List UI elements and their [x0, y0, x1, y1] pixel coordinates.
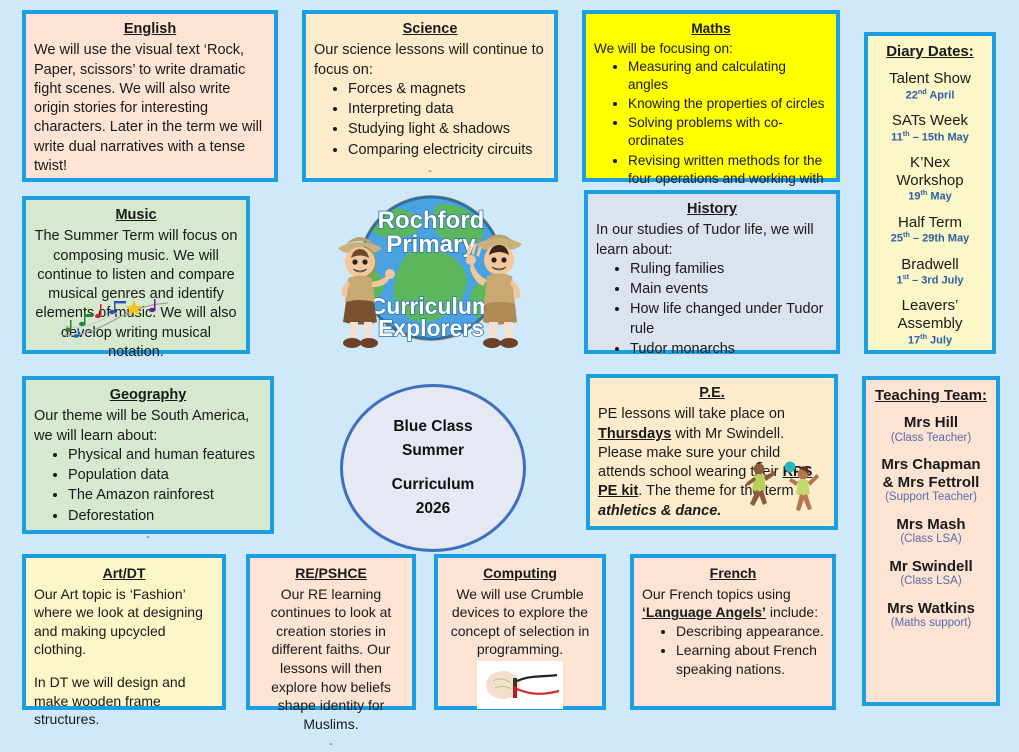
list-item: Main events [630, 280, 828, 299]
maths-title: Maths [594, 20, 828, 38]
team-member-name: Mrs Mash [874, 516, 988, 534]
list-item: Population data [68, 466, 262, 485]
list-item: Forces & magnets [348, 80, 546, 99]
geography-intro: Our theme will be South America, we will… [34, 407, 262, 446]
diary-entry: Talent Show 22nd April [876, 70, 984, 103]
list-item: How life changed under Tudor rule [630, 300, 828, 339]
team-member: Mrs Chapman & Mrs Fettroll (Support Teac… [874, 456, 988, 506]
geography-trailing-dash: - [34, 530, 262, 545]
science-trailing-dash: - [314, 164, 546, 179]
diary-entry: SATs Week 11th – 15th May [876, 112, 984, 145]
diary-entry: K’Nex Workshop 19th May [876, 154, 984, 205]
repshce-trailing-dash: - [258, 737, 404, 752]
team-member-role: (Support Teacher) [874, 490, 988, 505]
list-item: Tudor monarchs [630, 340, 828, 359]
list-item: Interpreting data [348, 100, 546, 119]
diary-entry: Bradwell 1st – 3rd July [876, 256, 984, 289]
science-list: Forces & magnets Interpreting data Study… [318, 80, 546, 160]
diary-date: 25th – 29th May [876, 230, 984, 246]
repshce-body: Our RE learning continues to look at cre… [258, 585, 404, 734]
list-item: Solving problems with co-ordinates [628, 114, 828, 150]
pe-theme: athletics & dance. [598, 503, 721, 519]
diary-event: Half Term [876, 214, 984, 232]
artdt-title: Art/DT [34, 564, 214, 583]
science-title: Science [314, 20, 546, 39]
diary-event: SATs Week [876, 112, 984, 130]
subject-card-maths: Maths We will be focusing on: Measuring … [582, 10, 840, 182]
crumble-board-photo [477, 661, 563, 709]
logo-line-2: Primary [386, 231, 476, 258]
pe-title: P.E. [598, 384, 826, 403]
dancing-children-icon [732, 456, 828, 522]
team-member-role: (Class LSA) [874, 532, 988, 547]
geography-title: Geography [34, 386, 262, 405]
class-circle-line-4: 2026 [416, 497, 450, 521]
class-circle-line-1: Blue Class [393, 415, 472, 439]
class-circle-line-3: Curriculum [392, 473, 475, 497]
logo-line-1: Rochford [378, 207, 485, 234]
french-title: French [642, 564, 824, 583]
subject-card-geography: Geography Our theme will be South Americ… [22, 376, 274, 534]
diary-date: 19th May [876, 188, 984, 204]
team-member-role: (Class Teacher) [874, 431, 988, 446]
list-item: Describing appearance. [676, 622, 824, 641]
list-item: Knowing the properties of circles [628, 95, 828, 113]
list-item: The Amazon rainforest [68, 486, 262, 505]
team-member: Mrs Mash (Class LSA) [874, 516, 988, 548]
list-item: Deforestation [68, 507, 262, 526]
diary-event: Talent Show [876, 70, 984, 88]
subject-card-pe: P.E. PE lessons will take place on Thurs… [586, 374, 838, 530]
english-body: We will use the visual text ‘Rock, Paper… [34, 41, 266, 176]
team-member: Mrs Hill (Class Teacher) [874, 414, 988, 446]
list-item: Physical and human features [68, 446, 262, 465]
diary-date: 1st – 3rd July [876, 272, 984, 288]
diary-entry: Half Term 25th – 29th May [876, 214, 984, 247]
history-title: History [596, 200, 828, 219]
diary-dates-title: Diary Dates: [876, 42, 984, 62]
school-logo: Rochford Primary Curriculum Explorers [318, 186, 544, 354]
rochford-primary-globe-logo: Rochford Primary Curriculum Explorers [318, 186, 544, 354]
teaching-team-card: Teaching Team: Mrs Hill (Class Teacher) … [862, 376, 1000, 706]
logo-line-4: Explorers [378, 315, 484, 341]
music-notes-icon [56, 290, 172, 342]
diary-entry: Leavers’ Assembly 17th July [876, 297, 984, 348]
list-item: Studying light & shadows [348, 120, 546, 139]
french-scheme: ‘Language Angels’ [642, 604, 766, 620]
subject-card-history: History In our studies of Tudor life, we… [584, 190, 840, 354]
subject-card-french: French Our French topics using ‘Language… [630, 554, 836, 710]
team-member-name: Mrs Hill [874, 414, 988, 432]
diary-date: 11th – 15th May [876, 129, 984, 145]
diary-date: 17th July [876, 332, 984, 348]
subject-card-science: Science Our science lessons will continu… [302, 10, 558, 182]
list-item: Measuring and calculating angles [628, 58, 828, 94]
french-list: Describing appearance. Learning about Fr… [646, 622, 824, 679]
geography-list: Physical and human features Population d… [38, 446, 262, 526]
team-member-role: (Maths support) [874, 616, 988, 631]
french-intro: Our French topics using ‘Language Angels… [642, 585, 824, 622]
list-item: Learning about French speaking nations. [676, 641, 824, 678]
team-member: Mr Swindell (Class LSA) [874, 558, 988, 590]
computing-body: We will use Crumble devices to explore t… [446, 585, 594, 659]
class-circle-line-2: Summer [402, 439, 464, 463]
team-member-name: Mr Swindell [874, 558, 988, 576]
artdt-paragraph-2: In DT we will design and make wooden fra… [34, 673, 214, 729]
curriculum-map-board: English We will use the visual text ‘Roc… [0, 0, 1019, 718]
artdt-paragraph-1: Our Art topic is ‘Fashion’ where we look… [34, 585, 214, 659]
subject-card-computing: Computing We will use Crumble devices to… [434, 554, 606, 710]
list-item: Ruling families [630, 260, 828, 279]
repshce-title: RE/PSHCE [258, 564, 404, 583]
history-intro: In our studies of Tudor life, we will le… [596, 221, 828, 260]
science-intro: Our science lessons will continue to foc… [314, 41, 546, 80]
subject-card-artdt: Art/DT Our Art topic is ‘Fashion’ where … [22, 554, 226, 710]
diary-dates-card: Diary Dates: Talent Show 22nd April SATs… [864, 32, 996, 354]
team-member-name: Mrs Watkins [874, 600, 988, 618]
team-member: Mrs Watkins (Maths support) [874, 600, 988, 632]
diary-date: 22nd April [876, 87, 984, 103]
list-item: Comparing electricity circuits [348, 141, 546, 160]
team-member-role: (Class LSA) [874, 574, 988, 589]
subject-card-english: English We will use the visual text ‘Roc… [22, 10, 278, 182]
computing-title: Computing [446, 564, 594, 583]
maths-intro: We will be focusing on: [594, 40, 828, 58]
pe-day: Thursdays [598, 426, 671, 442]
subject-card-music: Music The Summer Term will focus on comp… [22, 196, 250, 354]
music-title: Music [34, 206, 238, 225]
subject-card-repshce: RE/PSHCE Our RE learning continues to lo… [246, 554, 416, 710]
diary-event: Leavers’ Assembly [876, 297, 984, 332]
english-title: English [34, 20, 266, 39]
team-member-name: Mrs Chapman & Mrs Fettroll [874, 456, 988, 491]
history-list: Ruling families Main events How life cha… [600, 260, 828, 359]
diary-event: K’Nex Workshop [876, 154, 984, 189]
class-summary-circle: Blue Class Summer Curriculum 2026 [340, 384, 526, 552]
teaching-team-title: Teaching Team: [874, 386, 988, 406]
diary-event: Bradwell [876, 256, 984, 274]
